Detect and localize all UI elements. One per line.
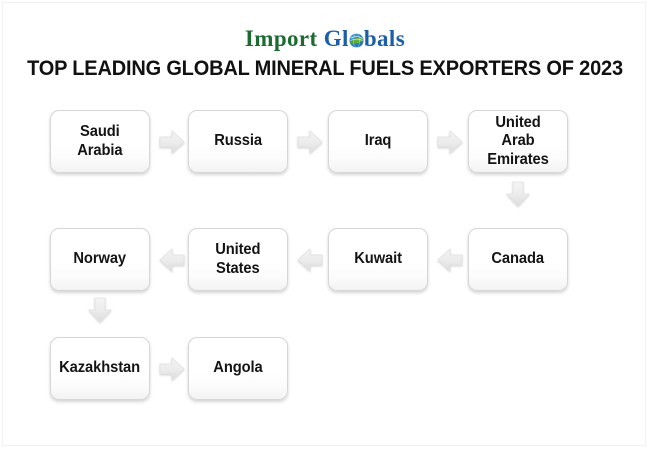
arrow-down-icon: [504, 180, 532, 208]
node-label-line2: Emirates: [487, 151, 548, 168]
node-label-line1: United: [215, 241, 260, 258]
arrow-left-icon: [436, 246, 464, 274]
page-title: TOP LEADING GLOBAL MINERAL FUELS EXPORTE…: [23, 56, 628, 81]
node-label-line2: Arabia: [77, 142, 122, 159]
logo-text-import: Import: [245, 26, 318, 51]
node-iraq[interactable]: Iraq: [328, 110, 428, 173]
node-united-states[interactable]: United States: [188, 228, 288, 291]
node-norway[interactable]: Norway: [50, 228, 150, 291]
node-canada[interactable]: Canada: [468, 228, 568, 291]
arrow-right-icon: [296, 128, 324, 156]
arrow-right-icon: [158, 128, 186, 156]
infographic-canvas: Import Gl bals TOP LEADING GLOBAL MINERA…: [0, 0, 650, 450]
node-kazakhstan[interactable]: Kazakhstan: [50, 337, 150, 400]
node-kuwait[interactable]: Kuwait: [328, 228, 428, 291]
node-label: Norway: [74, 250, 127, 268]
globe-icon: [349, 28, 364, 43]
node-label-line1: United Arab: [495, 114, 540, 149]
node-label: Iraq: [365, 132, 392, 150]
node-label: Russia: [214, 132, 262, 150]
node-label-line1: Saudi: [80, 123, 120, 140]
node-label: Kuwait: [354, 250, 402, 268]
logo-text-globals-pre: Gl: [324, 26, 349, 51]
node-label-line2: States: [216, 260, 260, 277]
node-saudi-arabia[interactable]: Saudi Arabia: [50, 110, 150, 173]
node-label: Kazakhstan: [60, 359, 141, 377]
node-label: Canada: [492, 250, 545, 268]
arrow-right-icon: [158, 355, 186, 383]
logo-text-globals-post: bals: [364, 26, 405, 51]
node-russia[interactable]: Russia: [188, 110, 288, 173]
arrow-down-icon: [86, 296, 114, 324]
node-label: Angola: [213, 359, 262, 377]
arrow-left-icon: [158, 246, 186, 274]
brand-logo: Import Gl bals: [0, 26, 650, 52]
node-angola[interactable]: Angola: [188, 337, 288, 400]
arrow-left-icon: [296, 246, 324, 274]
arrow-right-icon: [436, 128, 464, 156]
node-united-arab-emirates[interactable]: United Arab Emirates: [468, 110, 568, 173]
